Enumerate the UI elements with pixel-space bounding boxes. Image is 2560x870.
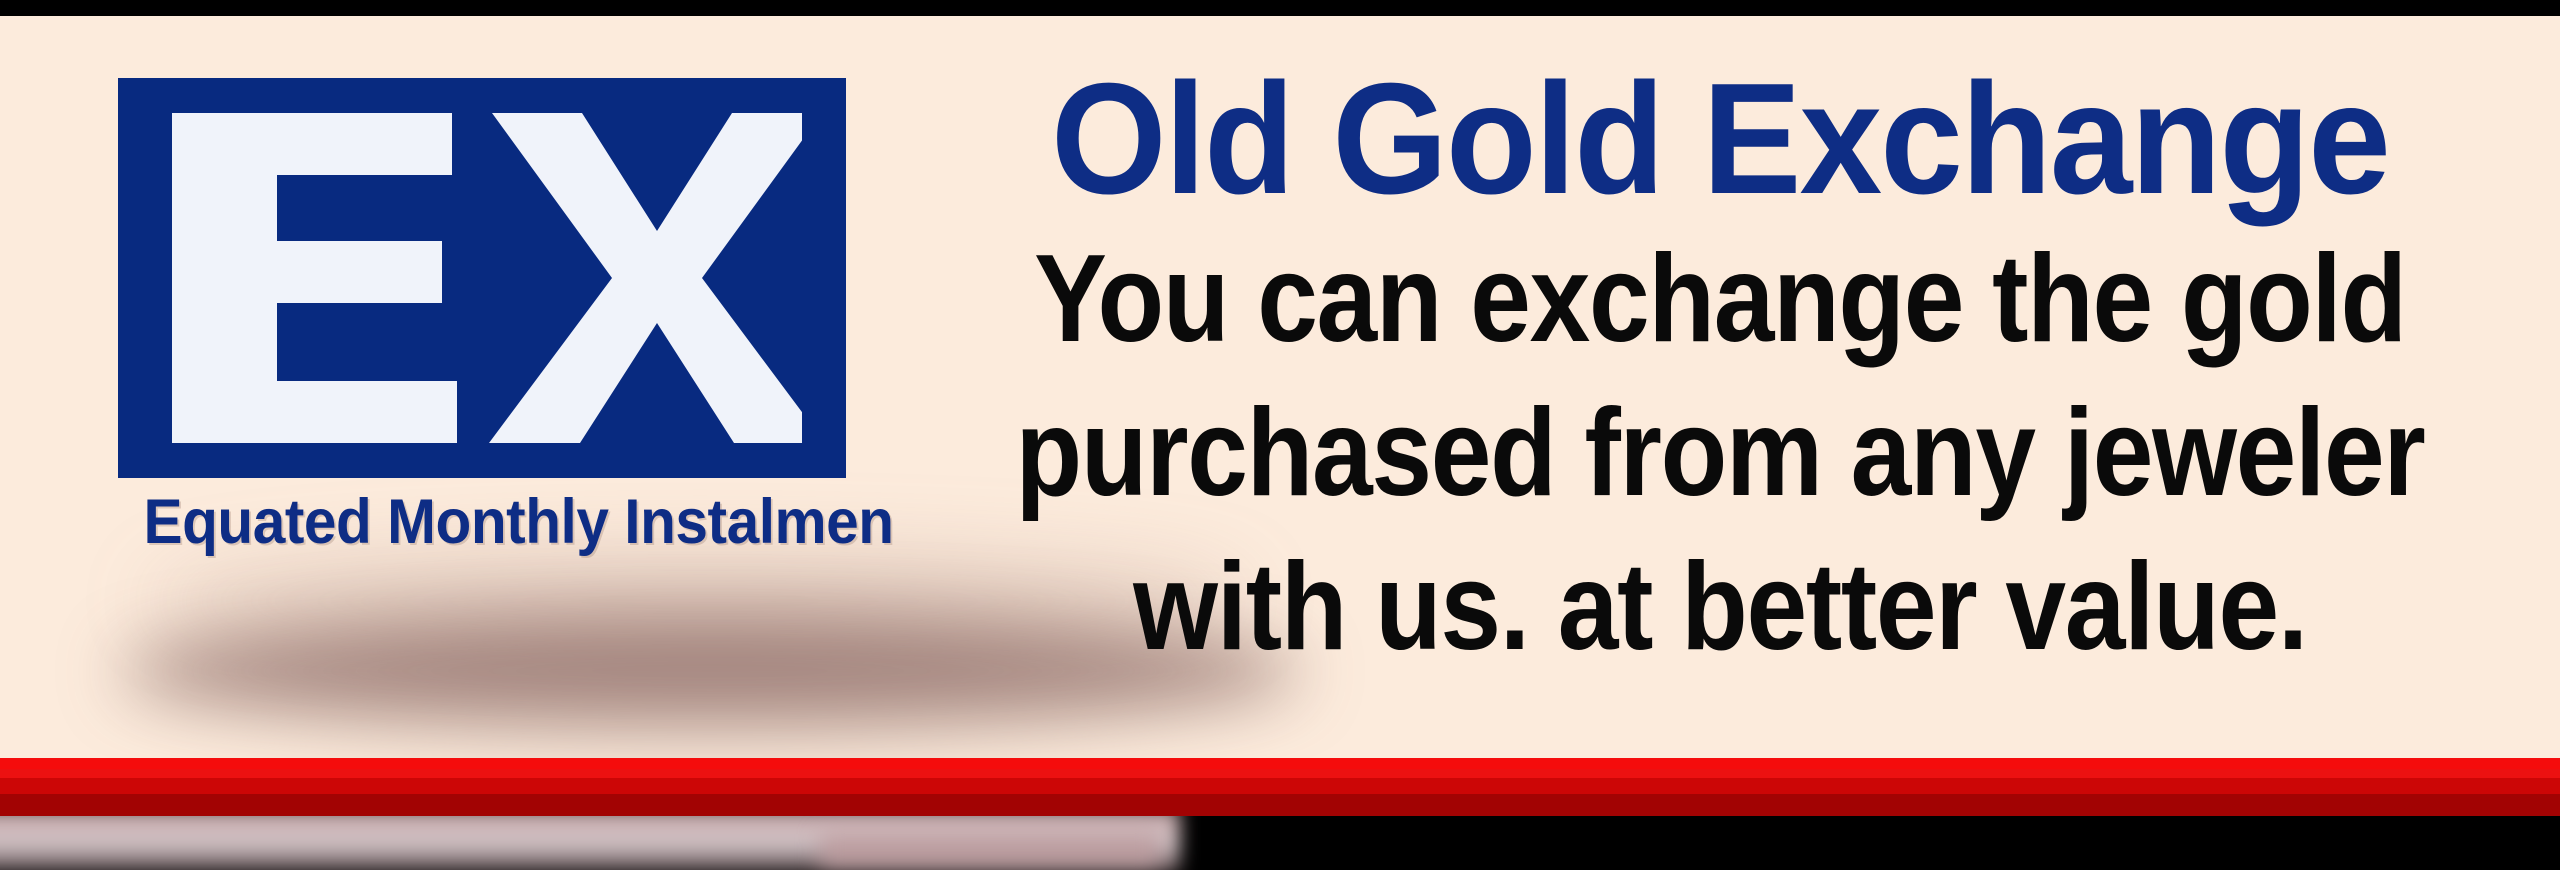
banner: Equated Monthly Instalmen Old Gold Excha… [0,0,2560,870]
message-line-3: with us. at better value. [998,531,2441,685]
text-column: Old Gold Exchange You can exchange the g… [900,56,2540,685]
bottom-dark-strip [0,816,2560,870]
message-line-1: You can exchange the gold [998,223,2441,377]
ex-logo-mark [118,78,846,478]
banner-headline: Old Gold Exchange [949,56,2491,223]
banner-message: You can exchange the gold purchased from… [900,223,2540,684]
logo-caption: Equated Monthly Instalmen [143,490,820,554]
ex-logo-icon [162,113,802,443]
message-line-2: purchased from any jeweler [998,377,2441,531]
logo-block: Equated Monthly Instalmen [118,78,848,554]
red-accent-rule-1 [0,758,2560,769]
top-black-bar [0,0,2560,16]
red-accent-rule-4 [0,794,2560,816]
cream-content-panel: Equated Monthly Instalmen Old Gold Excha… [0,16,2560,758]
red-accent-rule-2 [0,769,2560,778]
red-accent-rule-3 [0,778,2560,794]
bottom-blurred-object-tail [820,834,1160,868]
